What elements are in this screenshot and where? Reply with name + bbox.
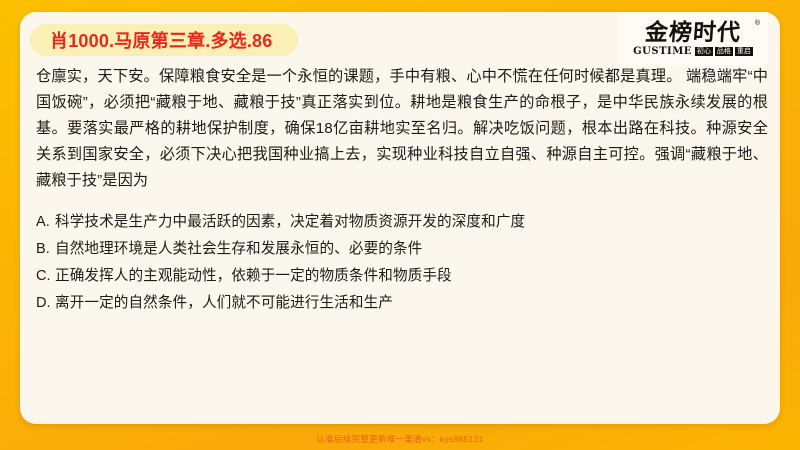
- brand-tag: 品格: [715, 47, 733, 56]
- option-item-b[interactable]: B. 自然地理环境是人类社会生存和发展永恒的、必要的条件: [36, 237, 760, 262]
- brand-tag: 重启: [735, 47, 753, 56]
- option-text: 离开一定的自然条件，人们就不可能进行生活和生产: [55, 291, 760, 316]
- option-list: A. 科学技术是生产力中最活跃的因素，决定着对物质资源开发的深度和广度 B. 自…: [36, 210, 760, 318]
- question-passage: 仓廪实，天下安。保障粮食安全是一个永恒的课题，手中有粮、心中不慌在任何时候都是真…: [36, 64, 768, 194]
- brand-name-cn: 金榜时代: [644, 21, 742, 44]
- option-item-d[interactable]: D. 离开一定的自然条件，人们就不可能进行生活和生产: [36, 291, 760, 316]
- option-key: D.: [36, 291, 55, 316]
- question-title-badge: 肖1000.马原第三章.多选.86: [30, 24, 298, 56]
- question-card: 肖1000.马原第三章.多选.86 ® 金榜时代 GUSTIME 初心 品格 重…: [20, 12, 780, 424]
- option-text: 正确发挥人的主观能动性，依赖于一定的物质条件和物质手段: [55, 264, 760, 289]
- option-text: 科学技术是生产力中最活跃的因素，决定着对物质资源开发的深度和广度: [55, 210, 760, 235]
- option-key: A.: [36, 210, 55, 235]
- brand-tag-list: 初心 品格 重启: [695, 47, 753, 56]
- registered-mark-icon: ®: [755, 20, 760, 27]
- brand-name-latin: GUSTIME: [633, 46, 692, 57]
- page-title: 肖1000.马原第三章.多选.86: [50, 27, 272, 53]
- option-key: B.: [36, 237, 55, 262]
- question-body: 仓廪实，天下安。保障粮食安全是一个永恒的课题，手中有粮、心中不慌在任何时候都是真…: [36, 64, 768, 194]
- option-item-a[interactable]: A. 科学技术是生产力中最活跃的因素，决定着对物质资源开发的深度和广度: [36, 210, 760, 235]
- brand-tag: 初心: [695, 47, 713, 56]
- brand-logo: ® 金榜时代 GUSTIME 初心 品格 重启: [618, 12, 768, 66]
- option-key: C.: [36, 264, 55, 289]
- brand-subtitle-row: GUSTIME 初心 品格 重启: [633, 46, 753, 57]
- footer-watermark: 认准后续完整更新唯一渠道vx：kys985121: [0, 433, 800, 445]
- option-item-c[interactable]: C. 正确发挥人的主观能动性，依赖于一定的物质条件和物质手段: [36, 264, 760, 289]
- option-text: 自然地理环境是人类社会生存和发展永恒的、必要的条件: [55, 237, 760, 262]
